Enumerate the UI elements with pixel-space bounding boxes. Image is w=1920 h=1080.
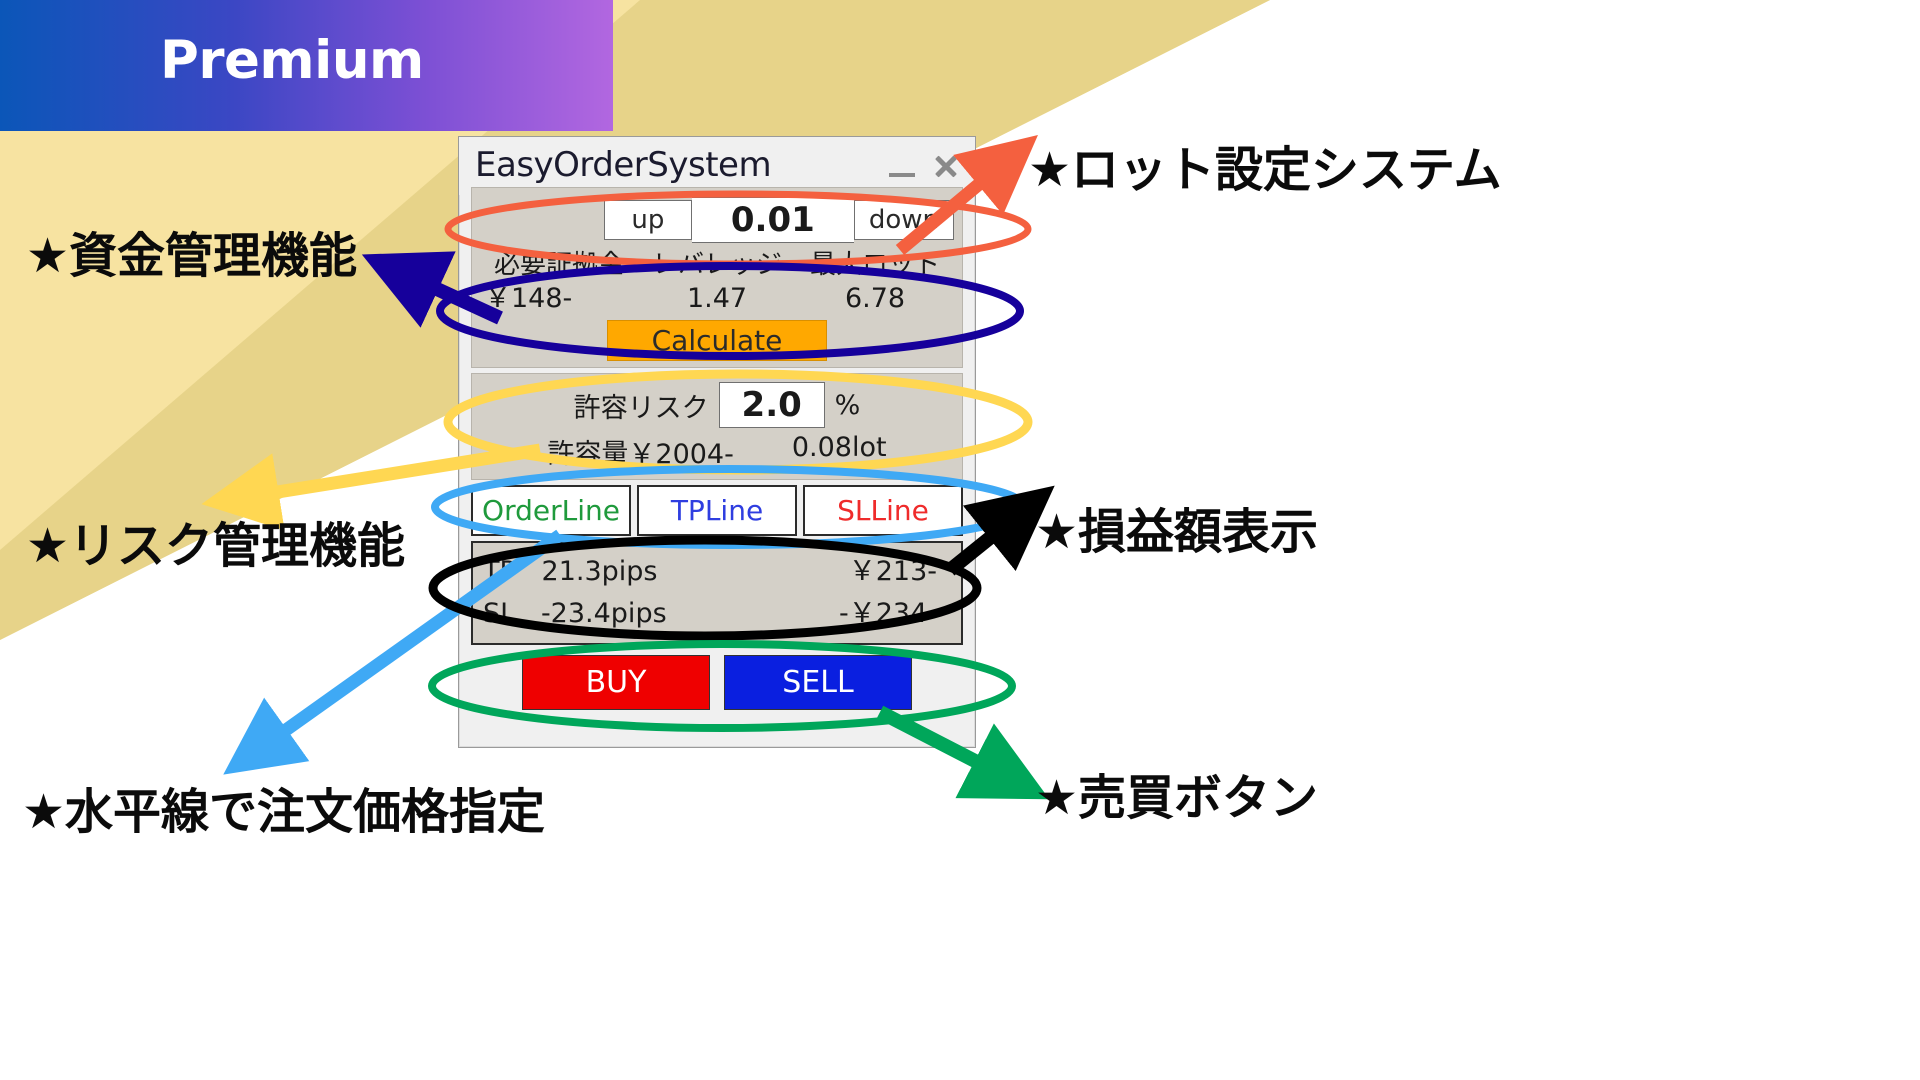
risk-percent-input[interactable]: 2.0 xyxy=(719,382,825,428)
sl-pips-text: SL -23.4pips xyxy=(483,593,723,635)
annotation-label-trade-buttons: ★売買ボタン xyxy=(1035,758,1318,828)
sell-button[interactable]: SELL xyxy=(724,655,912,710)
easyordersystem-window: EasyOrderSystem up 0.01 down 必要証拠金 レバレッジ… xyxy=(458,136,976,748)
annotation-label-lot-system: ★ロット設定システム xyxy=(1028,130,1502,200)
lot-up-button[interactable]: up xyxy=(604,200,692,240)
close-icon[interactable] xyxy=(933,153,959,179)
premium-banner: Premium xyxy=(0,0,613,131)
risk-panel: 許容リスク 2.0 % 許容量￥2004- 0.08lot xyxy=(471,373,963,480)
window-controls xyxy=(889,153,959,179)
required-margin-value: ￥148- xyxy=(480,281,638,317)
sl-pips-value: -23.4pips xyxy=(541,598,667,629)
risk-amount-label: 許容量￥2004- xyxy=(547,432,733,471)
sl-money-value: -￥234- xyxy=(787,593,951,635)
line-buttons-row: OrderLine TPLine SLLine xyxy=(471,485,963,536)
tpline-button[interactable]: TPLine xyxy=(637,485,797,536)
lot-stepper-row: up 0.01 down xyxy=(480,194,954,249)
risk-label: 許容リスク xyxy=(574,386,709,425)
annotation-label-pnl-display: ★損益額表示 xyxy=(1035,492,1318,562)
tp-pips-value: 21.3pips xyxy=(542,556,658,587)
risk-input-row: 許容リスク 2.0 % xyxy=(480,380,954,432)
required-margin-header: 必要証拠金 xyxy=(480,249,638,281)
risk-amount-row: 許容量￥2004- 0.08lot xyxy=(480,432,954,473)
lot-and-fund-panel: up 0.01 down 必要証拠金 レバレッジ 最大ロット ￥148- 1.4… xyxy=(471,187,963,368)
orderline-button[interactable]: OrderLine xyxy=(471,485,631,536)
lot-value-input[interactable]: 0.01 xyxy=(692,197,854,243)
sl-result-row: SL -23.4pips -￥234- xyxy=(483,593,951,635)
sl-label: SL xyxy=(483,598,515,629)
window-title: EasyOrderSystem xyxy=(475,145,771,185)
calculate-button[interactable]: Calculate xyxy=(607,320,827,361)
pnl-result-panel: TP 21.3pips ￥213- SL -23.4pips -￥234- xyxy=(471,541,963,645)
annotation-label-risk-management: ★リスク管理機能 xyxy=(26,506,405,576)
minimize-icon[interactable] xyxy=(889,173,915,177)
slline-button[interactable]: SLLine xyxy=(803,485,963,536)
annotation-label-horizontal-line: ★水平線で注文価格指定 xyxy=(22,772,545,842)
risk-percent-unit: % xyxy=(835,390,861,421)
window-client-area: up 0.01 down 必要証拠金 レバレッジ 最大ロット ￥148- 1.4… xyxy=(467,187,967,739)
tp-pips-text: TP 21.3pips xyxy=(483,551,723,593)
premium-label: Premium xyxy=(160,30,424,91)
buy-button[interactable]: BUY xyxy=(522,655,710,710)
calculate-row: Calculate xyxy=(480,317,954,361)
risk-amount-lot: 0.08lot xyxy=(792,432,887,471)
annotation-label-fund-management: ★資金管理機能 xyxy=(26,216,357,286)
lot-down-button[interactable]: down xyxy=(854,200,954,240)
tp-label: TP xyxy=(483,556,516,587)
fund-info-grid: 必要証拠金 レバレッジ 最大ロット ￥148- 1.47 6.78 xyxy=(480,249,954,317)
max-lot-value: 6.78 xyxy=(796,281,954,317)
max-lot-header: 最大ロット xyxy=(796,249,954,281)
trade-buttons-row: BUY SELL xyxy=(467,653,967,710)
tp-money-value: ￥213- xyxy=(787,551,951,593)
leverage-value: 1.47 xyxy=(638,281,796,317)
tp-result-row: TP 21.3pips ￥213- xyxy=(483,551,951,593)
leverage-header: レバレッジ xyxy=(638,249,796,281)
